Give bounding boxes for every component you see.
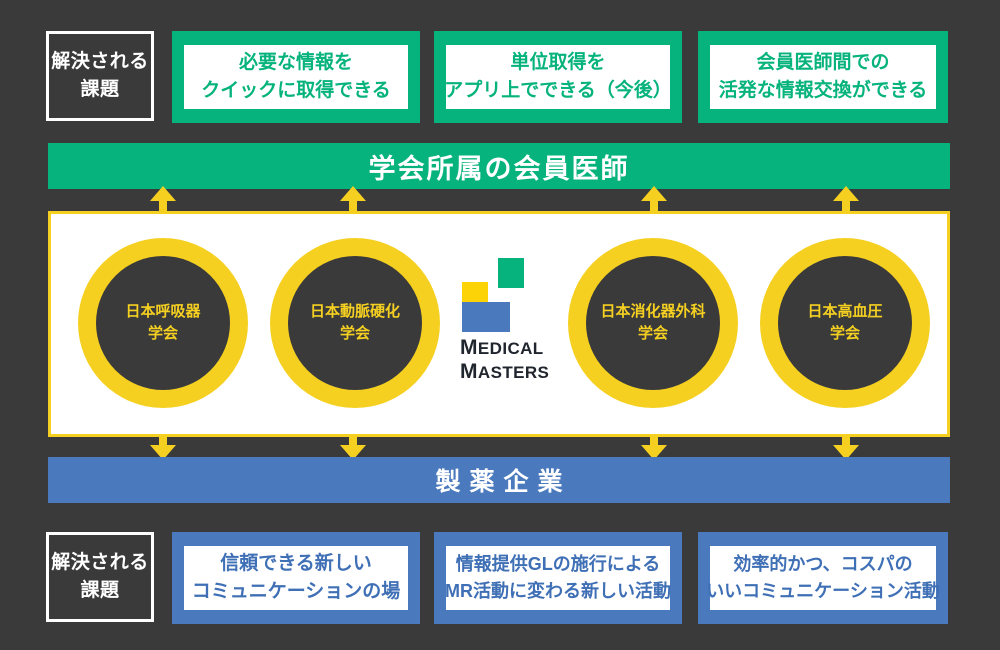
up-arrow-4-head xyxy=(833,186,859,201)
top-benefit-card-3-text: 会員医師間での 活発な情報交換ができる xyxy=(710,45,936,109)
band-member-doctors-title: 学会所属の会員医師 xyxy=(369,147,630,186)
bottom-benefit-card-2-text: 情報提供GLの施行による MR活動に変わる新しい活動 xyxy=(446,546,670,610)
down-arrow-3-shaft xyxy=(650,437,658,445)
logo-square-green-icon xyxy=(498,258,524,288)
bottom-benefit-card-1-text: 信頼できる新しい コミュニケーションの場 xyxy=(184,546,408,610)
society-circle-2-core: 日本動脈硬化 学会 xyxy=(288,256,422,390)
top-benefit-card-1-text: 必要な情報を クイックに取得できる xyxy=(184,45,408,109)
bottom-benefit-card-2[interactable]: 情報提供GLの施行による MR活動に変わる新しい活動 xyxy=(434,532,682,624)
society-circle-2-line2: 学会 xyxy=(340,323,370,345)
down-arrow-2-shaft xyxy=(349,437,357,445)
bottom-benefit-card-3-text: 効率的かつ、コスパの いいコミュニケーション活動 xyxy=(710,546,936,610)
bottom-issue-label: 解決される 課題 xyxy=(46,532,154,622)
logo-text-line2: MASTERS xyxy=(460,360,568,384)
up-arrow-3-head xyxy=(641,186,667,201)
society-circle-4[interactable]: 日本高血圧 学会 xyxy=(760,238,930,408)
top-issue-label: 解決される 課題 xyxy=(46,31,154,121)
medical-masters-logo-text: MEDICAL MASTERS xyxy=(460,336,568,384)
bottom-benefit-card-3-line1: 効率的かつ、コスパの xyxy=(733,551,912,578)
top-benefit-card-1-line2: クイックに取得できる xyxy=(201,77,391,106)
top-issue-label-line2: 課題 xyxy=(80,76,119,104)
bottom-benefit-card-2-line1: 情報提供GLの施行による xyxy=(456,551,660,578)
logo-text-line1: MEDICAL xyxy=(460,336,568,360)
band-pharma-companies: 製薬企業 xyxy=(48,457,950,503)
up-arrow-1-head xyxy=(150,186,176,201)
medical-masters-logo: MEDICAL MASTERS xyxy=(460,258,568,384)
logo-text-line2-rest: ASTERS xyxy=(478,363,549,382)
society-circle-4-line1: 日本高血圧 xyxy=(807,301,882,323)
logo-text-line1-rest: EDICAL xyxy=(478,339,544,358)
top-benefit-card-2[interactable]: 単位取得を アプリ上でできる（今後） xyxy=(434,31,682,123)
medical-masters-logo-mark xyxy=(462,258,526,320)
society-circle-3[interactable]: 日本消化器外科 学会 xyxy=(568,238,738,408)
top-benefit-card-2-line2: アプリ上でできる（今後） xyxy=(444,77,672,106)
top-benefit-card-3-line1: 会員医師間での xyxy=(756,49,889,78)
bottom-issue-label-line1: 解決される xyxy=(51,549,149,577)
society-circle-2[interactable]: 日本動脈硬化 学会 xyxy=(270,238,440,408)
diagram-canvas: 解決される 課題 必要な情報を クイックに取得できる 単位取得を アプリ上ででき… xyxy=(0,0,1000,650)
band-member-doctors: 学会所属の会員医師 xyxy=(48,143,950,189)
society-circle-1-line2: 学会 xyxy=(148,323,178,345)
bottom-benefit-card-3-line2: いいコミュニケーション活動 xyxy=(706,578,940,605)
top-benefit-card-2-text: 単位取得を アプリ上でできる（今後） xyxy=(446,45,670,109)
top-benefit-card-1[interactable]: 必要な情報を クイックに取得できる xyxy=(172,31,420,123)
bottom-benefit-card-2-line2: MR活動に変わる新しい活動 xyxy=(445,578,671,605)
top-benefit-card-3-line2: 活発な情報交換ができる xyxy=(719,77,928,106)
society-circle-2-line1: 日本動脈硬化 xyxy=(310,301,400,323)
society-circle-4-core: 日本高血圧 学会 xyxy=(778,256,912,390)
society-circle-1-line1: 日本呼吸器 xyxy=(125,301,200,323)
logo-square-blue-icon xyxy=(462,302,510,332)
band-pharma-companies-title: 製薬企業 xyxy=(426,462,571,498)
logo-text-line2-cap: M xyxy=(460,360,478,383)
society-circle-3-line2: 学会 xyxy=(638,323,668,345)
top-benefit-card-2-line1: 単位取得を xyxy=(510,49,605,78)
bottom-benefit-card-1-line2: コミュニケーションの場 xyxy=(192,578,401,607)
top-issue-label-line1: 解決される xyxy=(51,48,149,76)
down-arrow-1-shaft xyxy=(159,437,167,445)
bottom-issue-label-line2: 課題 xyxy=(80,577,119,605)
up-arrow-2-head xyxy=(340,186,366,201)
society-circle-1-core: 日本呼吸器 学会 xyxy=(96,256,230,390)
top-benefit-card-1-line1: 必要な情報を xyxy=(239,49,353,78)
down-arrow-4-shaft xyxy=(842,437,850,445)
bottom-benefit-card-1[interactable]: 信頼できる新しい コミュニケーションの場 xyxy=(172,532,420,624)
society-circle-3-line1: 日本消化器外科 xyxy=(600,301,705,323)
society-circle-3-core: 日本消化器外科 学会 xyxy=(586,256,720,390)
top-benefit-card-3[interactable]: 会員医師間での 活発な情報交換ができる xyxy=(698,31,948,123)
bottom-benefit-card-1-line1: 信頼できる新しい xyxy=(220,550,372,579)
bottom-benefit-card-3[interactable]: 効率的かつ、コスパの いいコミュニケーション活動 xyxy=(698,532,948,624)
society-circle-1[interactable]: 日本呼吸器 学会 xyxy=(78,238,248,408)
logo-text-line1-cap: M xyxy=(460,336,478,359)
society-circle-4-line2: 学会 xyxy=(830,323,860,345)
